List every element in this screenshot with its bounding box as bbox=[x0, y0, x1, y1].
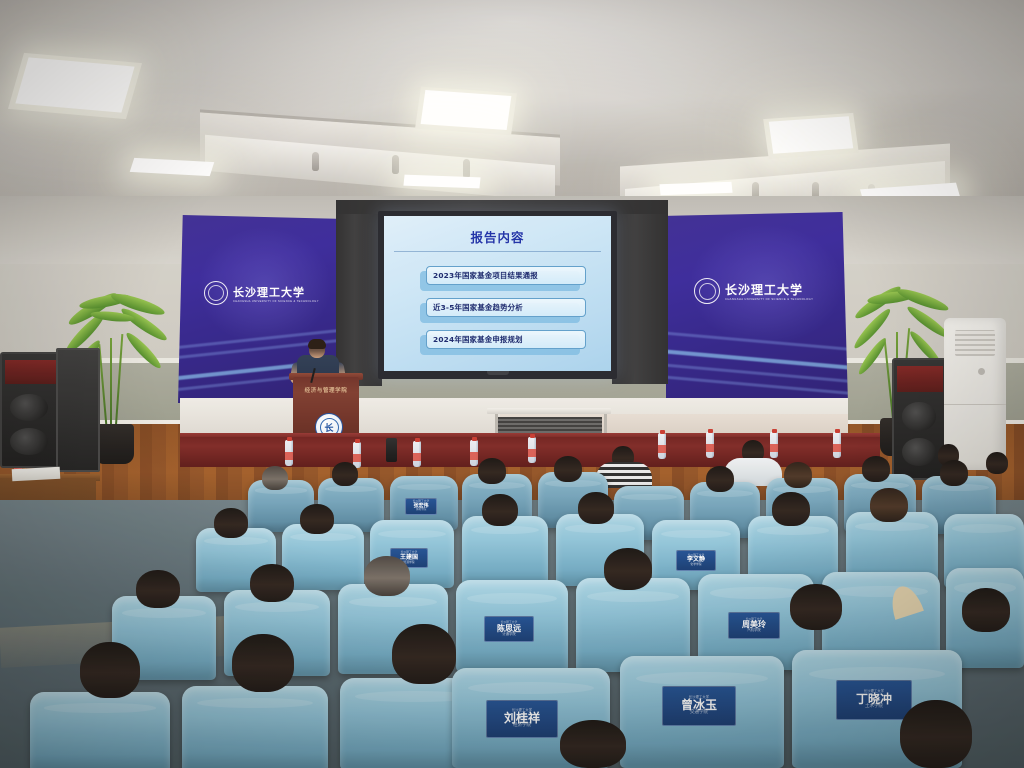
speaker-hair bbox=[308, 339, 326, 349]
seat-name-card: 长沙理工大学 丁晓冲 土木学院 bbox=[836, 680, 912, 720]
sprinkler-nozzle bbox=[312, 152, 319, 171]
attendee-head bbox=[262, 466, 288, 490]
attendee-head bbox=[962, 588, 1010, 632]
seat-name-card: 长沙理工大学 周美玲 汽机学院 bbox=[728, 612, 780, 639]
podium-front-text: 经济与管理学院 bbox=[296, 386, 356, 394]
slide-bullet-3: 2024年国家基金申报规划 bbox=[416, 330, 593, 352]
attendee-head bbox=[560, 720, 626, 768]
screen-bottom-tab bbox=[487, 371, 509, 375]
stage-curtain-right bbox=[612, 206, 668, 384]
water-bottle[interactable] bbox=[353, 442, 361, 468]
banner-left-logo: 长沙理工大学 CHANGSHA UNIVERSITY OF SCIENCE & … bbox=[204, 281, 319, 305]
banner-right-name-cn: 长沙理工大学 bbox=[725, 281, 813, 298]
seat[interactable] bbox=[462, 516, 548, 586]
attendee-head bbox=[706, 466, 734, 492]
papers-on-desk bbox=[12, 467, 61, 481]
banner-right-logo: 长沙理工大学 CHANGSHA UNIVERSITY OF SCIENCE & … bbox=[694, 278, 813, 304]
attendee-head bbox=[478, 458, 506, 484]
attendee-head bbox=[986, 452, 1008, 474]
water-bottle[interactable] bbox=[413, 441, 421, 467]
attendee-head bbox=[784, 462, 812, 488]
water-bottle[interactable] bbox=[470, 440, 478, 466]
slide-title: 报告内容 bbox=[384, 227, 611, 246]
water-bottle[interactable] bbox=[658, 433, 666, 459]
slide-bullet-list: 2023年国家基金项目结果通报 近3-5年国家基金趋势分析 2024年国家基金申… bbox=[416, 266, 593, 362]
attendee-head bbox=[790, 584, 842, 630]
pa-speaker-left bbox=[0, 352, 62, 468]
lecture-hall-photo: 长沙理工大学 CHANGSHA UNIVERSITY OF SCIENCE & … bbox=[0, 0, 1024, 768]
desk-mic-base bbox=[386, 438, 397, 462]
seat-name-card: 长沙理工大学 李文静 化学学院 bbox=[676, 550, 716, 571]
stage-curtain-left bbox=[336, 206, 382, 386]
water-bottle[interactable] bbox=[528, 437, 536, 463]
bullet-box: 近3-5年国家基金趋势分析 bbox=[426, 298, 586, 317]
attendee-head bbox=[482, 494, 518, 526]
attendee-head bbox=[214, 508, 248, 538]
attendee-head bbox=[900, 700, 972, 768]
seat-card-sub: 计通学院 bbox=[502, 633, 516, 636]
slide-title-divider bbox=[394, 251, 601, 252]
attendee-head bbox=[80, 642, 140, 698]
seat-card-sub: 交通学院 bbox=[690, 711, 708, 716]
seat-card-sub: 土木学院 bbox=[865, 705, 883, 710]
bullet-text: 2023年国家基金项目结果通报 bbox=[433, 270, 538, 281]
projection-screen[interactable]: 报告内容 2023年国家基金项目结果通报 近3-5年国家基金趋势分析 2024年… bbox=[384, 216, 611, 371]
air-conditioner-vent bbox=[955, 330, 995, 356]
banner-right-glow bbox=[666, 212, 848, 404]
bullet-text: 近3-5年国家基金趋势分析 bbox=[433, 302, 523, 313]
water-bottle[interactable] bbox=[833, 432, 841, 458]
ceiling-light-1 bbox=[15, 57, 134, 112]
seat[interactable] bbox=[30, 692, 170, 768]
seat-card-sub: 经济学院 bbox=[513, 724, 531, 729]
attendee-head bbox=[392, 624, 456, 684]
attendee-head bbox=[554, 456, 582, 482]
seat-card-sub: 汽机学院 bbox=[747, 629, 761, 632]
plant-pot bbox=[94, 424, 134, 464]
bullet-text: 2024年国家基金申报规划 bbox=[433, 334, 523, 345]
air-conditioner-seam bbox=[944, 404, 1006, 405]
attendee-head bbox=[300, 504, 334, 534]
slide-bullet-1: 2023年国家基金项目结果通报 bbox=[416, 266, 593, 288]
attendee-head bbox=[250, 564, 294, 602]
seat-name-card: 长沙理工大学 陈思远 计通学院 bbox=[484, 616, 534, 642]
seat-name-card: 长沙理工大学 刘桂祥 经济学院 bbox=[486, 700, 558, 738]
banner-right: 长沙理工大学 CHANGSHA UNIVERSITY OF SCIENCE & … bbox=[666, 212, 848, 404]
bullet-box: 2023年国家基金项目结果通报 bbox=[426, 266, 586, 285]
university-seal-icon bbox=[204, 281, 228, 305]
attendee-head bbox=[232, 634, 294, 692]
air-conditioner-control-icon[interactable] bbox=[978, 368, 985, 375]
university-seal-inner bbox=[208, 285, 224, 301]
slide-bullet-2: 近3-5年国家基金趋势分析 bbox=[416, 298, 593, 320]
attendee-head bbox=[604, 548, 652, 590]
seat-card-sub: 水利学院 bbox=[416, 509, 426, 512]
ceiling-light-3 bbox=[769, 116, 853, 154]
water-bottle[interactable] bbox=[770, 432, 778, 458]
attendee-head bbox=[870, 488, 908, 522]
attendee-head bbox=[862, 456, 890, 482]
bullet-box: 2024年国家基金申报规划 bbox=[426, 330, 586, 349]
attendee-head bbox=[364, 556, 410, 596]
pa-speaker-left-case bbox=[56, 348, 100, 472]
seat-card-sub: 化学学院 bbox=[690, 563, 701, 566]
stage-side-table bbox=[487, 408, 611, 414]
water-bottle[interactable] bbox=[706, 432, 714, 458]
water-bottle[interactable] bbox=[285, 440, 293, 466]
seat[interactable] bbox=[182, 686, 328, 768]
seat[interactable] bbox=[282, 524, 364, 590]
banner-left-name-en: CHANGSHA UNIVERSITY OF SCIENCE & TECHNOL… bbox=[233, 300, 319, 303]
banner-left-name-cn: 长沙理工大学 bbox=[233, 284, 319, 300]
university-seal-inner bbox=[699, 283, 716, 300]
attendee-head bbox=[578, 492, 614, 524]
attendee-head bbox=[772, 492, 810, 526]
seat-name-card: 长沙理工大学 张宏伟 水利学院 bbox=[405, 498, 437, 515]
sprinkler-nozzle bbox=[463, 159, 470, 178]
attendee-head bbox=[940, 460, 968, 486]
attendee-head bbox=[332, 462, 358, 486]
university-seal-icon bbox=[694, 278, 720, 304]
seat-name-card: 长沙理工大学 曾冰玉 交通学院 bbox=[662, 686, 736, 726]
sprinkler-nozzle bbox=[392, 155, 399, 174]
banner-right-name-en: CHANGSHA UNIVERSITY OF SCIENCE & TECHNOL… bbox=[725, 298, 813, 301]
ceiling-light-2 bbox=[421, 90, 512, 130]
attendee-head bbox=[136, 570, 180, 608]
